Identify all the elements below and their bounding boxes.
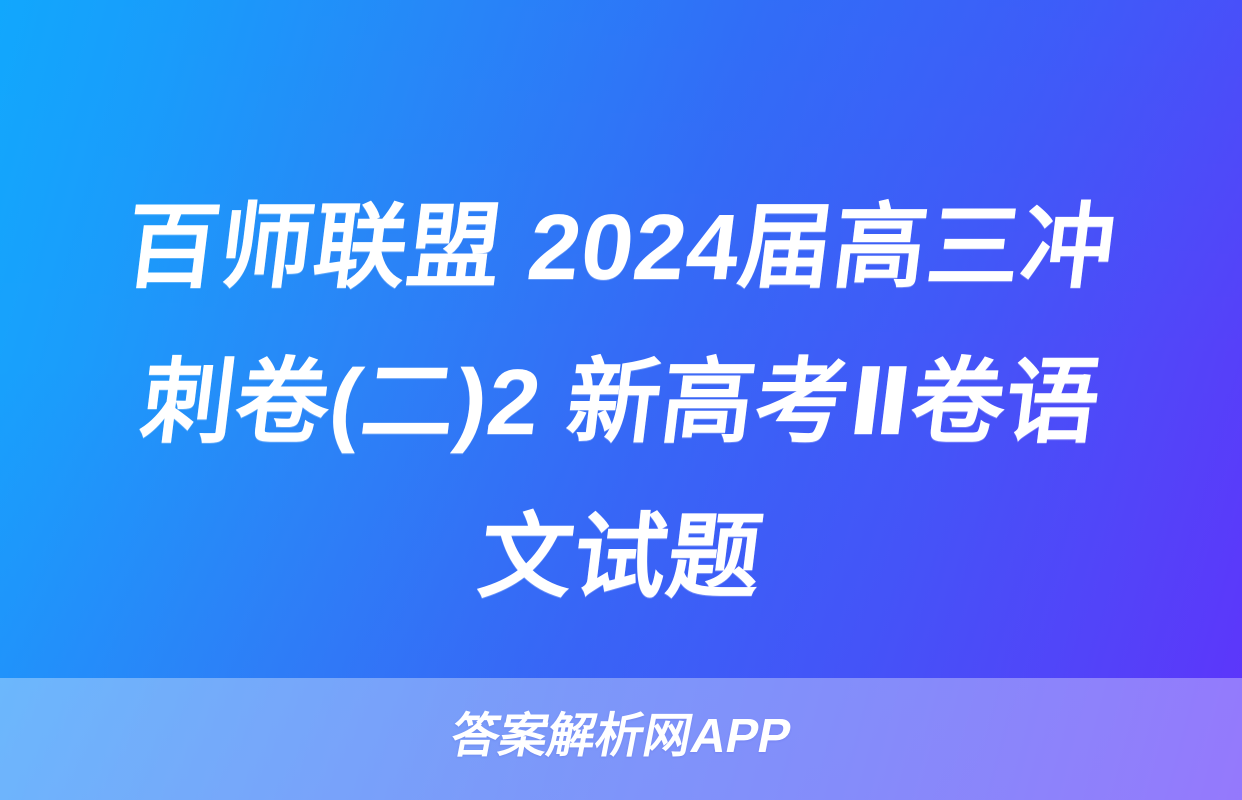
title-line-3: 文试题	[54, 480, 1187, 635]
exam-paper-cover: 百师联盟 2024届高三冲 刺卷(二)2 新高考Ⅱ卷语 文试题 答案解析网APP	[0, 0, 1242, 800]
watermark-brand-label: 答案解析网APP	[0, 708, 1242, 766]
title-line-2: 刺卷(二)2 新高考Ⅱ卷语	[54, 325, 1187, 480]
page-title: 百师联盟 2024届高三冲 刺卷(二)2 新高考Ⅱ卷语 文试题	[0, 170, 1242, 635]
title-line-1: 百师联盟 2024届高三冲	[54, 170, 1187, 325]
